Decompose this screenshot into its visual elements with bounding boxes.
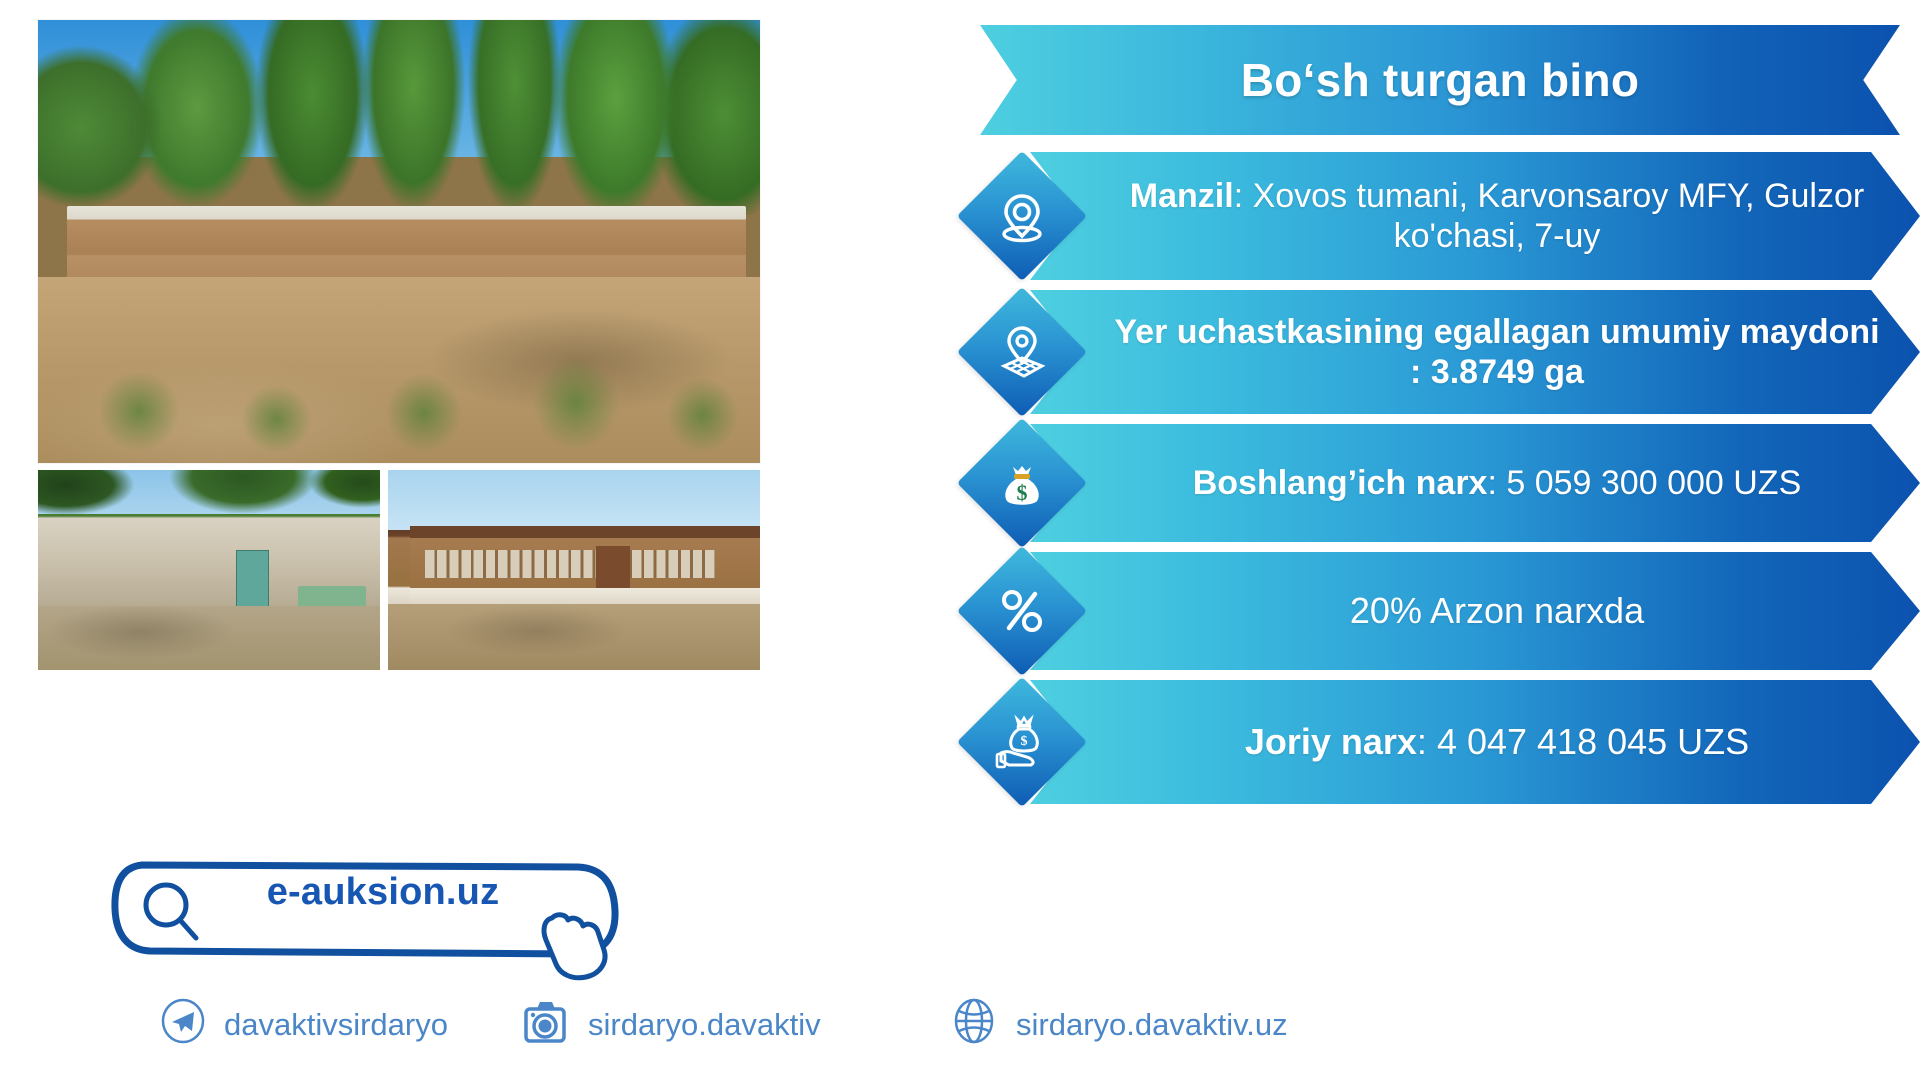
land-area-value: 3.8749 ga (1421, 353, 1584, 391)
search-bar[interactable]: e-auksion.uz (108, 855, 618, 930)
photo-bush (515, 330, 638, 463)
start-price-badge: $ (976, 437, 1068, 529)
start-price-banner: Boshlang’ich narx: 5 059 300 000 UZS (1030, 424, 1920, 542)
discount-banner: 20% Arzon narxda (1030, 552, 1920, 670)
photo-sky (388, 470, 760, 530)
info-row-discount: 20% Arzon narxda (968, 552, 1920, 670)
current-price-label: Joriy narx (1245, 721, 1417, 762)
photo-ground (388, 604, 760, 670)
info-row-current-price: Joriy narx: 4 047 418 045 UZS $ (968, 680, 1920, 804)
social-label-instagram: sirdaryo.davaktiv (588, 1007, 821, 1043)
land-area-banner: Yer uchastkasining egallagan umumiy mayd… (1030, 290, 1920, 414)
current-price-value: 4 047 418 045 UZS (1427, 721, 1749, 762)
address-value: Xovos tumani, Karvonsaroy MFY, Gulzor ko… (1243, 177, 1864, 255)
address-badge (976, 170, 1068, 262)
current-price-banner: Joriy narx: 4 047 418 045 UZS (1030, 680, 1920, 804)
photo-bush (81, 348, 197, 463)
secondary-building-photo-right (388, 470, 760, 670)
info-row-address: Manzil: Xovos tumani, Karvonsaroy MFY, G… (968, 152, 1920, 280)
photo-bush (652, 357, 753, 463)
start-price-label: Boshlang’ich narx (1193, 464, 1488, 502)
photo-trees (38, 20, 760, 215)
svg-text:$: $ (1017, 480, 1028, 505)
info-column: Bo‘sh turgan bino Manzil: Xovos tumani, … (960, 0, 1920, 1080)
address-label: Manzil (1130, 177, 1234, 215)
svg-text:$: $ (1021, 734, 1028, 749)
instagram-camera-icon (520, 996, 570, 1054)
start-price-value: 5 059 300 000 UZS (1497, 464, 1801, 502)
start-price-separator: : (1487, 464, 1496, 502)
discount-text: 20% Arzon narxda (1350, 590, 1644, 632)
secondary-building-photo-left (38, 470, 380, 670)
search-bar-text: e-auksion.uz (108, 855, 618, 930)
photo-windows (425, 550, 715, 578)
photo-bush (370, 352, 478, 463)
percent-icon (976, 565, 1068, 657)
land-area-badge (976, 306, 1068, 398)
discount-badge (976, 565, 1068, 657)
land-area-text: Yer uchastkasining egallagan umumiy mayd… (1110, 312, 1884, 392)
media-column: e-auksion.uz davaktivsirdaryo (0, 0, 960, 1080)
info-row-start-price: Boshlang’ich narx: 5 059 300 000 UZS $ (968, 424, 1920, 542)
address-banner: Manzil: Xovos tumani, Karvonsaroy MFY, G… (1030, 152, 1920, 280)
current-price-separator: : (1417, 721, 1427, 762)
location-pin-icon (976, 170, 1068, 262)
address-text: Manzil: Xovos tumani, Karvonsaroy MFY, G… (1110, 176, 1884, 256)
page-title-text: Bo‘sh turgan bino (1241, 53, 1640, 107)
social-label-telegram: davaktivsirdaryo (224, 1007, 448, 1043)
current-price-badge: $ (976, 696, 1068, 788)
page-title: Bo‘sh turgan bino (980, 25, 1900, 135)
address-separator: : (1234, 177, 1243, 215)
main-building-photo (38, 20, 760, 463)
money-bag-icon: $ (976, 437, 1068, 529)
photo-door (236, 550, 269, 612)
social-link-telegram[interactable]: davaktivsirdaryo (160, 998, 520, 1052)
hand-money-icon: $ (976, 696, 1068, 788)
photo-ground (38, 606, 380, 670)
info-row-land-area: Yer uchastkasining egallagan umumiy mayd… (968, 290, 1920, 414)
map-plot-icon (976, 306, 1068, 398)
telegram-icon (160, 998, 206, 1052)
photo-bush (226, 366, 327, 463)
photo-door (596, 546, 629, 594)
start-price-text: Boshlang’ich narx: 5 059 300 000 UZS (1193, 463, 1802, 503)
current-price-text: Joriy narx: 4 047 418 045 UZS (1245, 721, 1749, 763)
social-link-instagram[interactable]: sirdaryo.davaktiv (520, 996, 950, 1054)
